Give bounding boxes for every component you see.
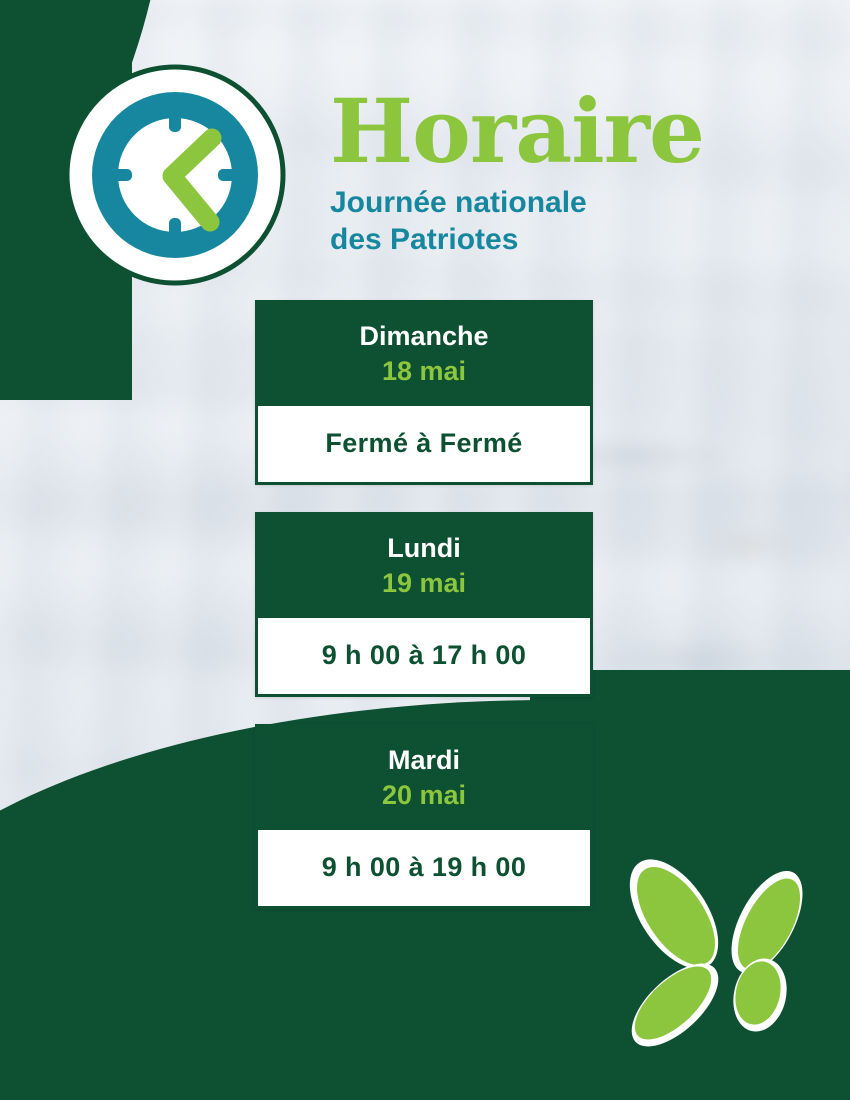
schedule-hours: 9 h 00 à 19 h 00 (266, 852, 582, 883)
poster-subtitle: Journée nationale des Patriotes (330, 184, 660, 258)
schedule-poster: Horaire Journée nationale des Patriotes … (0, 0, 850, 1100)
schedule-day-name: Mardi (265, 744, 583, 777)
schedule-card: Lundi 19 mai 9 h 00 à 17 h 00 (255, 512, 593, 697)
page-title: Horaire (330, 88, 800, 174)
schedule-card-header: Lundi 19 mai (255, 512, 593, 618)
schedule-card-list: Dimanche 18 mai Fermé à Fermé Lundi 19 m… (255, 300, 593, 909)
schedule-card: Mardi 20 mai 9 h 00 à 19 h 00 (255, 724, 593, 909)
title-block: Horaire Journée nationale des Patriotes (330, 88, 800, 259)
schedule-card-body: 9 h 00 à 19 h 00 (255, 830, 593, 909)
schedule-card: Dimanche 18 mai Fermé à Fermé (255, 300, 593, 485)
schedule-day-date: 20 mai (265, 779, 583, 812)
schedule-day-name: Dimanche (265, 320, 583, 353)
schedule-day-date: 18 mai (265, 355, 583, 388)
subtitle-line-2: des Patriotes (330, 221, 660, 258)
schedule-day-date: 19 mai (265, 567, 583, 600)
subtitle-line-1: Journée nationale (330, 184, 660, 221)
schedule-day-name: Lundi (265, 532, 583, 565)
schedule-hours: Fermé à Fermé (266, 428, 582, 459)
schedule-card-body: Fermé à Fermé (255, 406, 593, 485)
schedule-card-header: Mardi 20 mai (255, 724, 593, 830)
butterfly-logo-icon (612, 852, 837, 1062)
schedule-card-body: 9 h 00 à 17 h 00 (255, 618, 593, 697)
schedule-hours: 9 h 00 à 17 h 00 (266, 640, 582, 671)
clock-icon (64, 64, 286, 286)
schedule-card-header: Dimanche 18 mai (255, 300, 593, 406)
poster-header: Horaire Journée nationale des Patriotes (0, 0, 850, 290)
